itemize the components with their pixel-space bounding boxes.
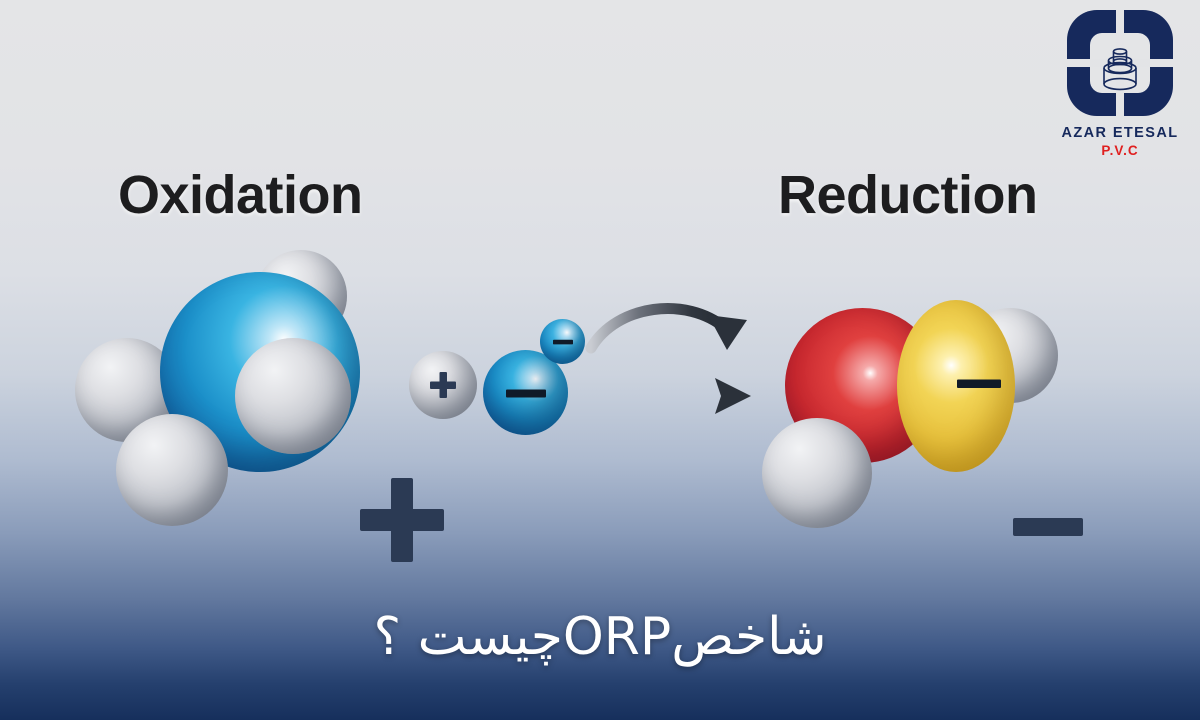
banner-canvas: Oxidation Reduction — [0, 0, 1200, 720]
logo-company-name: AZAR ETESAL — [1058, 125, 1182, 141]
left-molecule-satellite-sphere — [116, 414, 228, 526]
curved-arrow-right-icon — [591, 309, 747, 350]
standalone-minus-sign — [1012, 514, 1084, 545]
electron-sphere-small — [540, 319, 585, 364]
straight-arrow-right-icon — [587, 378, 751, 414]
left-molecule-satellite-sphere — [235, 338, 351, 454]
proton-sphere — [409, 351, 477, 419]
heading-oxidation: Oxidation — [118, 168, 363, 222]
right-molecule-lobe — [897, 300, 1015, 472]
right-molecule-satellite-sphere — [762, 418, 872, 528]
reaction-arrows-group — [575, 292, 775, 424]
brand-logo: AZAR ETESAL P.V.C — [1058, 8, 1182, 178]
logo-mark-icon — [1065, 8, 1175, 118]
logo-company-subtitle: P.V.C — [1058, 143, 1182, 158]
heading-reduction: Reduction — [778, 168, 1038, 222]
caption-text: شاخصORPچیست ؟ — [0, 608, 1200, 668]
standalone-plus-sign — [354, 472, 450, 573]
